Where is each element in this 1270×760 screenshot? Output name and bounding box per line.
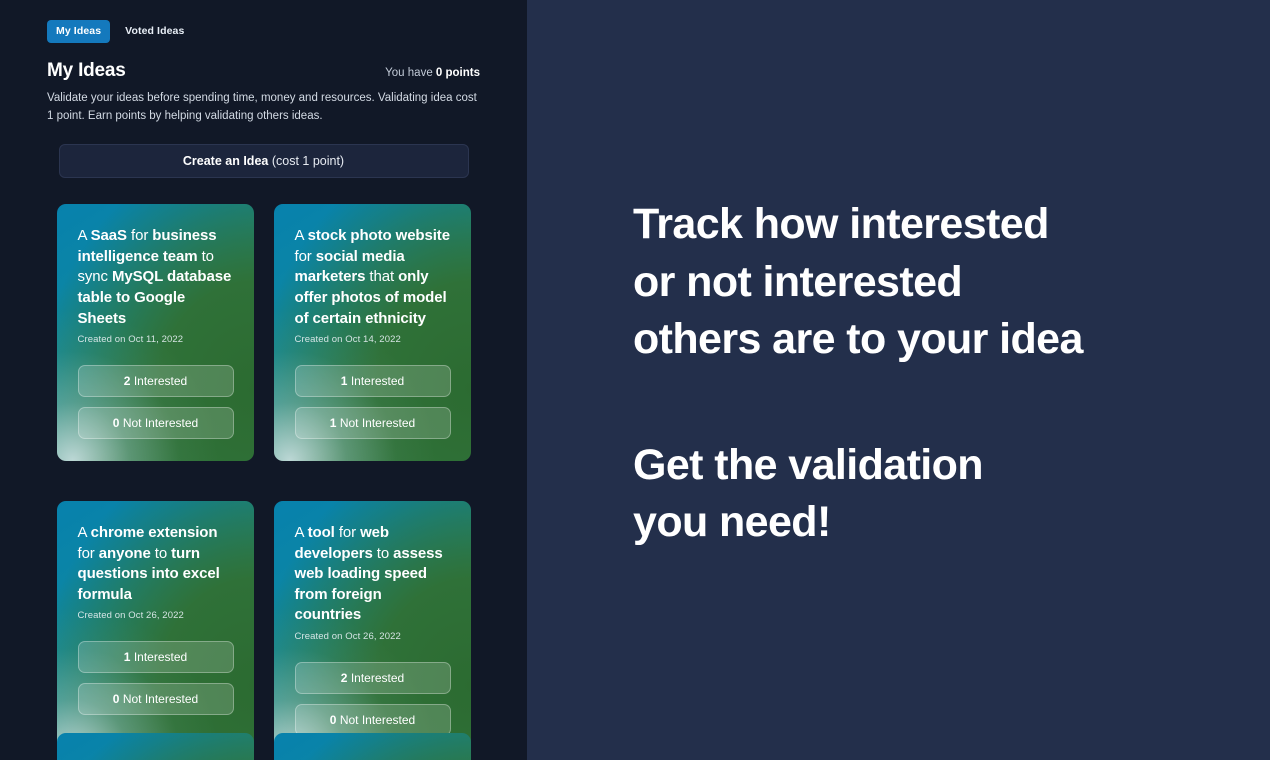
idea-card-grid-row-next [0, 733, 527, 760]
not-interested-button[interactable]: 0 Not Interested [78, 683, 234, 715]
marketing-panel: Track how interested or not interested o… [527, 0, 1270, 760]
interested-label: Interested [130, 650, 187, 664]
idea-created-date: Created on Oct 26, 2022 [78, 610, 234, 621]
interested-button[interactable]: 2 Interested [295, 662, 451, 694]
idea-card-grid: A SaaS for business intelligence team to… [47, 204, 480, 757]
not-interested-button[interactable]: 1 Not Interested [295, 407, 451, 439]
interested-label: Interested [347, 374, 404, 388]
create-idea-label: Create an Idea [183, 154, 268, 168]
not-interested-label: Not Interested [119, 416, 198, 430]
idea-title: A stock photo website for social media m… [295, 226, 451, 329]
page-description: Validate your ideas before spending time… [47, 90, 477, 125]
idea-card[interactable]: A chrome extension for anyone to turn qu… [57, 501, 254, 758]
create-idea-button[interactable]: Create an Idea (cost 1 point) [59, 144, 469, 178]
hero-line-5: you need! [633, 494, 1270, 552]
tab-voted-ideas[interactable]: Voted Ideas [116, 20, 193, 43]
idea-title: A SaaS for business intelligence team to… [78, 226, 234, 329]
panel-content: My Ideas Voted Ideas My Ideas You have 0… [0, 0, 527, 758]
not-interested-button[interactable]: 0 Not Interested [78, 407, 234, 439]
hero-line-1: Track how interested [633, 196, 1270, 254]
not-interested-label: Not Interested [336, 416, 415, 430]
hero-heading-primary: Track how interested or not interested o… [633, 196, 1270, 369]
idea-card[interactable]: A SaaS for business intelligence team to… [57, 204, 254, 461]
idea-card[interactable] [274, 733, 471, 760]
interested-button[interactable]: 1 Interested [295, 365, 451, 397]
idea-title: A tool for web developers to assess web … [295, 523, 451, 626]
points-balance: You have 0 points [385, 67, 480, 82]
idea-card[interactable] [57, 733, 254, 760]
points-prefix: You have [385, 67, 436, 79]
hero-line-4: Get the validation [633, 437, 1270, 495]
interested-label: Interested [130, 374, 187, 388]
idea-title: A chrome extension for anyone to turn qu… [78, 523, 234, 605]
create-idea-cost: (cost 1 point) [268, 154, 344, 168]
interested-button[interactable]: 1 Interested [78, 641, 234, 673]
not-interested-label: Not Interested [119, 692, 198, 706]
ideas-panel: My Ideas Voted Ideas My Ideas You have 0… [0, 0, 527, 760]
idea-created-date: Created on Oct 26, 2022 [295, 631, 451, 642]
tab-bar: My Ideas Voted Ideas [47, 20, 480, 43]
interested-label: Interested [347, 671, 404, 685]
idea-card[interactable]: A stock photo website for social media m… [274, 204, 471, 461]
tab-my-ideas[interactable]: My Ideas [47, 20, 110, 43]
not-interested-button[interactable]: 0 Not Interested [295, 704, 451, 736]
idea-card[interactable]: A tool for web developers to assess web … [274, 501, 471, 758]
idea-card-grid-overflow [0, 733, 527, 760]
hero-line-2: or not interested [633, 254, 1270, 312]
interested-button[interactable]: 2 Interested [78, 365, 234, 397]
hero-heading-secondary: Get the validation you need! [633, 437, 1270, 552]
idea-created-date: Created on Oct 11, 2022 [78, 334, 234, 345]
page-header: My Ideas You have 0 points [47, 61, 480, 82]
hero-line-3: others are to your idea [633, 311, 1270, 369]
points-value: 0 points [436, 67, 480, 79]
idea-created-date: Created on Oct 14, 2022 [295, 334, 451, 345]
not-interested-label: Not Interested [336, 713, 415, 727]
page-title: My Ideas [47, 61, 126, 82]
